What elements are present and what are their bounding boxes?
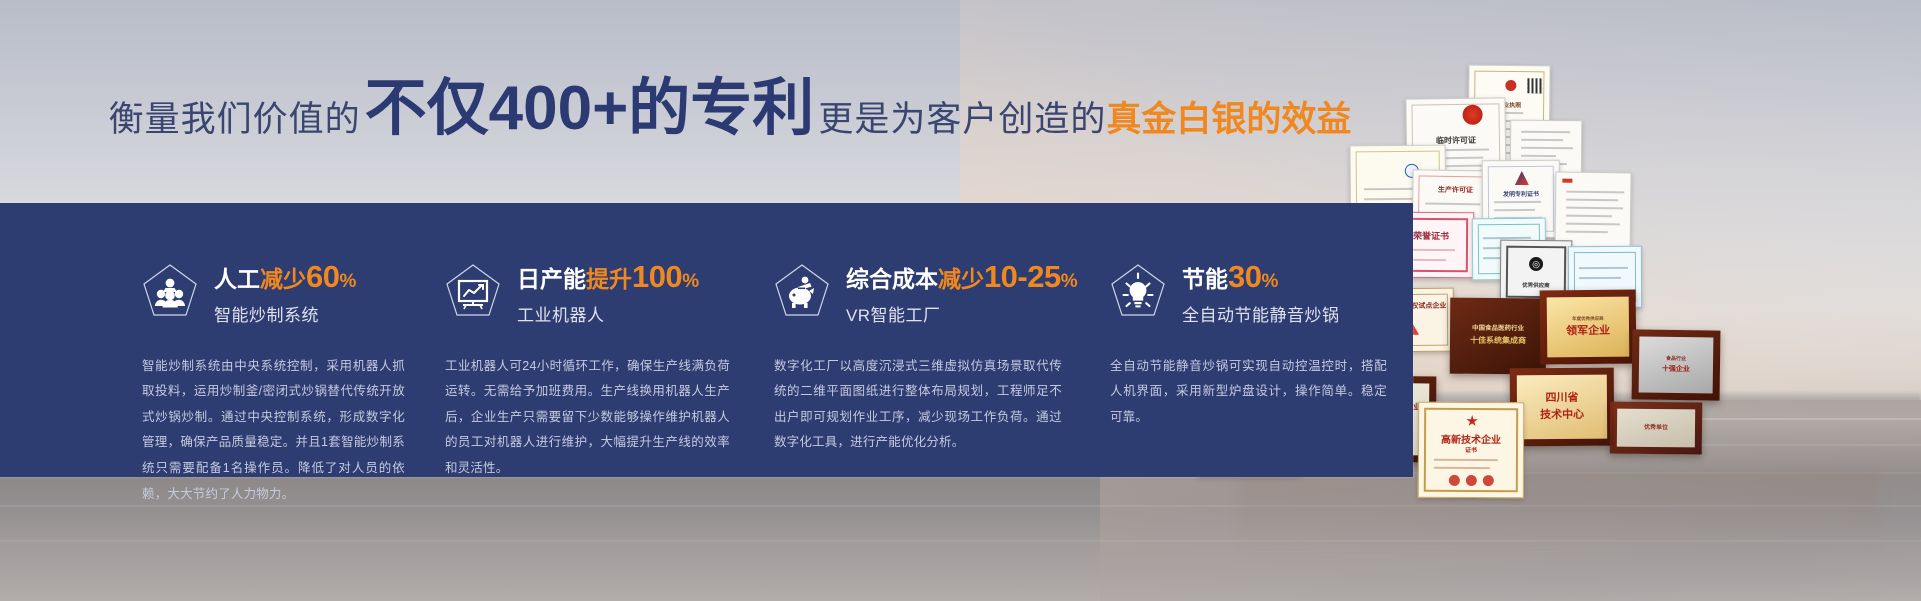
feature-column-4: 节能30% 全自动节能静音炒锅 全自动节能静音炒锅可实现自动控温控时，搭配人机界… [1088, 203, 1413, 477]
plaque-text: 十强企业 [1662, 364, 1690, 374]
feature-title: 人工减少60% [214, 261, 356, 294]
headline-lead: 衡量我们价值的 [109, 102, 361, 137]
headline-emphasis: 不仅400+的专利 [365, 78, 815, 140]
piggy-bank-icon [774, 263, 830, 321]
plaque-text: 年度优秀供应商 [1572, 315, 1604, 321]
feature-subtitle: 全自动节能静音炒锅 [1182, 301, 1340, 326]
red-seal-icon [1483, 475, 1494, 486]
feature-body: 工业机器人可24小时循环工作，确保生产线满负荷运转。无需给予加班费用。生产线换用… [445, 354, 730, 482]
plaque-text: 领军企业 [1566, 323, 1610, 338]
red-seal-icon [1466, 475, 1477, 486]
feature-subtitle: VR智能工厂 [846, 301, 1078, 326]
chart-board-icon [445, 263, 501, 321]
lightbulb-icon [1110, 263, 1166, 321]
features-columns: 人工减少60% 智能炒制系统 智能炒制系统由中央系统控制，采用机器人抓取投料，运… [0, 203, 1413, 477]
award-plaque: 中国食品医药行业 十佳系统集成商 [1450, 298, 1547, 375]
headline: 衡量我们价值的 不仅400+的专利 更是为客户创造的 真金白银的效益 [0, 76, 1460, 140]
feature-subtitle: 智能炒制系统 [214, 301, 356, 326]
feature-title: 综合成本减少10-25% [846, 261, 1078, 294]
plaque-text: 十佳系统集成商 [1470, 336, 1526, 347]
feature-subtitle: 工业机器人 [517, 301, 699, 326]
qr-code-icon [1527, 78, 1542, 93]
headline-mid: 更是为客户创造的 [818, 102, 1106, 137]
red-seal-icon [1505, 80, 1516, 91]
feature-column-1: 人工减少60% 智能炒制系统 智能炒制系统由中央系统控制，采用机器人抓取投料，运… [0, 203, 431, 477]
plaque-text: 食品行业 [1666, 356, 1686, 363]
feature-body: 数字化工厂以高度沉浸式三维虚拟仿真场景取代传统的二维平面图纸进行整体布局规划，工… [774, 354, 1062, 457]
feature-title: 日产能提升100% [517, 261, 699, 294]
award-plaque: 食品行业 十强企业 [1632, 329, 1721, 400]
plaque-text: 四川省 [1545, 391, 1578, 406]
award-plaque: 年度优秀供应商 领军企业 [1540, 289, 1637, 364]
plaque-text: 技术中心 [1540, 408, 1584, 423]
award-plaque: 四川省 技术中心 [1510, 368, 1615, 447]
high-tech-certificate: 高新技术企业 证书 [1418, 402, 1525, 499]
feature-column-2: 日产能提升100% 工业机器人 工业机器人可24小时循环工作，确保生产线满负荷运… [431, 203, 756, 477]
features-panel: 人工减少60% 智能炒制系统 智能炒制系统由中央系统控制，采用机器人抓取投料，运… [0, 203, 1413, 477]
medal-icon: ◎ [1529, 257, 1543, 271]
feature-column-3: 综合成本减少10-25% VR智能工厂 数字化工厂以高度沉浸式三维虚拟仿真场景取… [756, 203, 1088, 477]
plaque-text: 优秀单位 [1644, 424, 1668, 432]
headline-highlight: 真金白银的效益 [1106, 102, 1351, 137]
red-seal-icon [1449, 475, 1460, 486]
people-group-icon [142, 263, 198, 321]
feature-title: 节能30% [1182, 261, 1340, 294]
feature-body: 智能炒制系统由中央系统控制，采用机器人抓取投料，运用炒制釜/密闭式炒锅替代传统开… [142, 354, 405, 508]
feature-body: 全自动节能静音炒锅可实现自动控温控时，搭配人机界面，采用新型炉盘设计，操作简单。… [1110, 354, 1387, 431]
brand-mark-icon [1562, 179, 1572, 183]
plaque-text: 中国食品医药行业 [1472, 325, 1524, 334]
award-plaque: 优秀单位 [1610, 402, 1703, 455]
